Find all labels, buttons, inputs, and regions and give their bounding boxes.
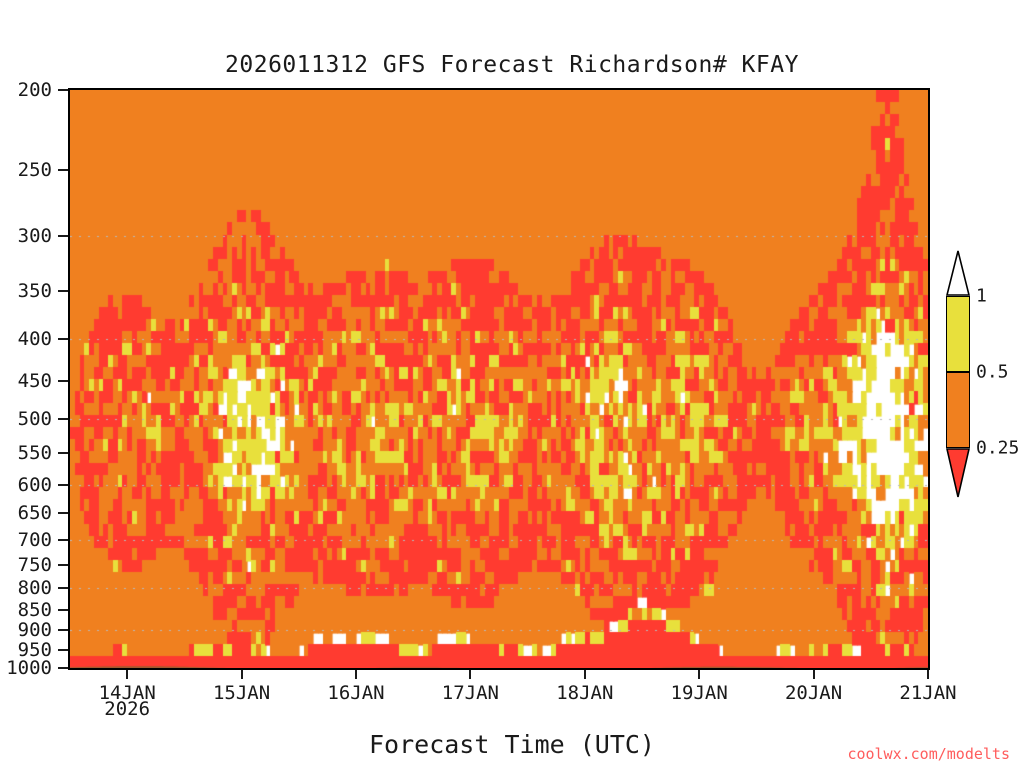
y-axis-tick-label: 250 xyxy=(18,159,52,181)
colorbar-label-0.5: 0.5 xyxy=(976,362,1009,383)
y-axis-tick-mark xyxy=(58,418,68,420)
y-axis-tick-mark xyxy=(58,629,68,631)
colorbar: 1 0.5 0.25 xyxy=(946,296,970,448)
y-axis-tick-mark xyxy=(58,512,68,514)
y-axis-tick-label: 200 xyxy=(18,79,52,101)
x-axis-tick-label: 17JAN xyxy=(442,682,499,704)
colorbar-bottom-arrow-icon xyxy=(946,448,970,498)
colorbar-top-arrow-icon xyxy=(946,250,970,296)
y-axis-tick-mark xyxy=(58,169,68,171)
y-axis-tick-mark xyxy=(58,564,68,566)
y-axis-tick-mark xyxy=(58,539,68,541)
x-axis-tick-label: 15JAN xyxy=(213,682,270,704)
y-axis-tick-mark xyxy=(58,290,68,292)
x-axis-tick-mark xyxy=(126,670,128,679)
x-axis-tick-mark xyxy=(355,670,357,679)
chart-title: 2026011312 GFS Forecast Richardson# KFAY xyxy=(0,52,1024,78)
y-axis-tick-label: 700 xyxy=(18,529,52,551)
colorbar-segment-orange xyxy=(946,372,970,448)
y-axis-tick-label: 550 xyxy=(18,442,52,464)
x-axis-year-label: 2026 xyxy=(104,698,150,720)
source-watermark: coolwx.com/modelts xyxy=(847,745,1010,763)
colorbar-segment-yellow xyxy=(946,296,970,372)
x-axis-tick-mark xyxy=(469,670,471,679)
x-axis-tick-label: 20JAN xyxy=(785,682,842,704)
y-axis-tick-mark xyxy=(58,235,68,237)
y-axis-tick-mark xyxy=(58,89,68,91)
y-axis-tick-label: 650 xyxy=(18,502,52,524)
y-axis-tick-label: 600 xyxy=(18,474,52,496)
x-axis-tick-label: 19JAN xyxy=(671,682,728,704)
x-axis-tick-mark xyxy=(241,670,243,679)
y-axis-tick-mark xyxy=(58,649,68,651)
x-axis-tick-label: 21JAN xyxy=(899,682,956,704)
y-axis-tick-label: 500 xyxy=(18,408,52,430)
y-axis-tick-label: 450 xyxy=(18,370,52,392)
y-axis-tick-label: 350 xyxy=(18,280,52,302)
x-axis-tick-label: 18JAN xyxy=(556,682,613,704)
y-axis-tick-label: 800 xyxy=(18,577,52,599)
y-axis-tick-mark xyxy=(58,667,68,669)
y-axis-tick-label: 850 xyxy=(18,599,52,621)
heatmap-canvas xyxy=(70,90,928,668)
x-axis-labels: 14JAN15JAN16JAN17JAN18JAN19JAN20JAN21JAN… xyxy=(0,674,1024,734)
y-axis-tick-mark xyxy=(58,484,68,486)
x-axis-tick-mark xyxy=(813,670,815,679)
plot-area xyxy=(68,88,930,670)
x-axis-tick-mark xyxy=(698,670,700,679)
chart-page: 2026011312 GFS Forecast Richardson# KFAY… xyxy=(0,0,1024,768)
x-axis-tick-mark xyxy=(584,670,586,679)
y-axis-tick-mark xyxy=(58,338,68,340)
y-axis-tick-mark xyxy=(58,452,68,454)
y-axis-tick-label: 400 xyxy=(18,328,52,350)
y-axis-tick-mark xyxy=(58,609,68,611)
x-axis-tick-mark xyxy=(927,670,929,679)
y-axis-tick-mark xyxy=(58,587,68,589)
colorbar-label-1: 1 xyxy=(976,286,987,307)
y-axis-tick-mark xyxy=(58,380,68,382)
y-axis-tick-label: 300 xyxy=(18,225,52,247)
x-axis-tick-label: 16JAN xyxy=(327,682,384,704)
y-axis-tick-label: 750 xyxy=(18,554,52,576)
y-axis-labels: 2002503003504004505005506006507007508008… xyxy=(0,88,62,670)
colorbar-label-0.25: 0.25 xyxy=(976,438,1019,459)
